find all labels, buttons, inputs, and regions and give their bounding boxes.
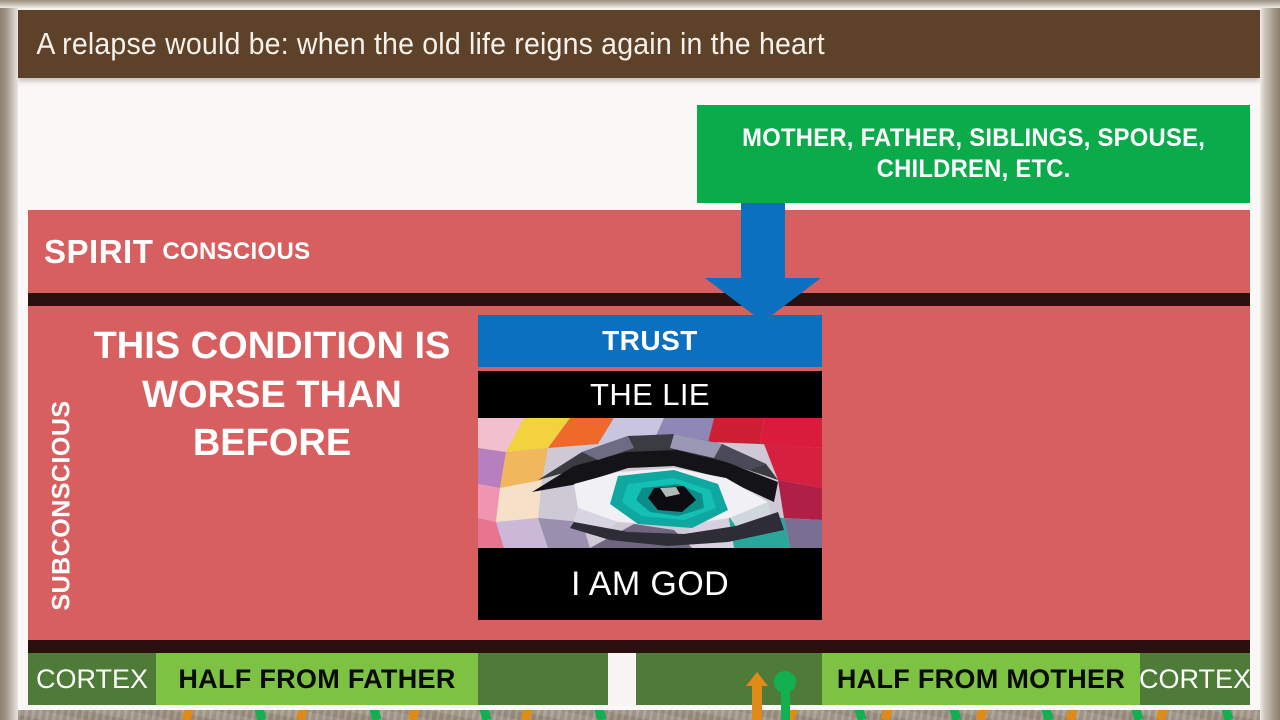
cortex-segment-spacer-2 bbox=[478, 653, 608, 705]
relatives-line-1: MOTHER, FATHER, SIBLINGS, SPOUSE, bbox=[742, 123, 1205, 154]
cortex-segment-half-from-father: HALF FROM FATHER bbox=[156, 653, 478, 705]
low-poly-eye-icon bbox=[478, 418, 822, 548]
germination-markers bbox=[735, 660, 805, 720]
relatives-line-2: CHILDREN, ETC. bbox=[742, 154, 1205, 185]
slide-canvas: A relapse would be: when the old life re… bbox=[0, 0, 1280, 720]
relatives-box-text: MOTHER, FATHER, SIBLINGS, SPOUSE, CHILDR… bbox=[742, 123, 1205, 186]
cortex-segment-cortex: CORTEX bbox=[1140, 653, 1250, 705]
frame-edge-left bbox=[0, 0, 18, 720]
relatives-box: MOTHER, FATHER, SIBLINGS, SPOUSE, CHILDR… bbox=[697, 105, 1250, 203]
center-stack: TRUST THE LIE bbox=[478, 315, 822, 620]
page-title: A relapse would be: when the old life re… bbox=[18, 26, 825, 62]
blue-down-arrow bbox=[703, 200, 823, 322]
frame-edge-right bbox=[1260, 0, 1280, 720]
orange-up-arrow-icon bbox=[746, 672, 768, 720]
blue-down-arrow-icon bbox=[703, 200, 823, 322]
condition-line-3: BEFORE bbox=[72, 419, 472, 468]
conscious-label: CONSCIOUS bbox=[153, 238, 310, 266]
divider-conscious-subconscious bbox=[28, 293, 1250, 306]
condition-line-1: THIS CONDITION IS bbox=[72, 322, 472, 371]
green-stem-icon bbox=[781, 682, 790, 720]
condition-line-2: WORSE THAN bbox=[72, 371, 472, 420]
cortex-segment-spacer-3 bbox=[608, 653, 636, 705]
eye-image bbox=[478, 418, 822, 548]
cortex-segment-cortex: CORTEX bbox=[28, 653, 156, 705]
title-banner: A relapse would be: when the old life re… bbox=[18, 10, 1260, 78]
frame-edge-top bbox=[0, 0, 1280, 8]
spirit-conscious-band: SPIRIT CONSCIOUS bbox=[28, 210, 1250, 293]
i-am-god-bar: I AM GOD bbox=[478, 548, 822, 620]
cortex-segment-half-from-mother: HALF FROM MOTHER bbox=[822, 653, 1140, 705]
divider-subconscious-cortex bbox=[28, 640, 1250, 653]
cortex-bar: CORTEXHALF FROM FATHERHALF FROM MOTHERCO… bbox=[28, 653, 1250, 705]
condition-message: THIS CONDITION IS WORSE THAN BEFORE bbox=[72, 322, 472, 468]
the-lie-bar: THE LIE bbox=[478, 371, 822, 418]
trust-bar: TRUST bbox=[478, 315, 822, 367]
spirit-label: SPIRIT bbox=[28, 233, 153, 271]
